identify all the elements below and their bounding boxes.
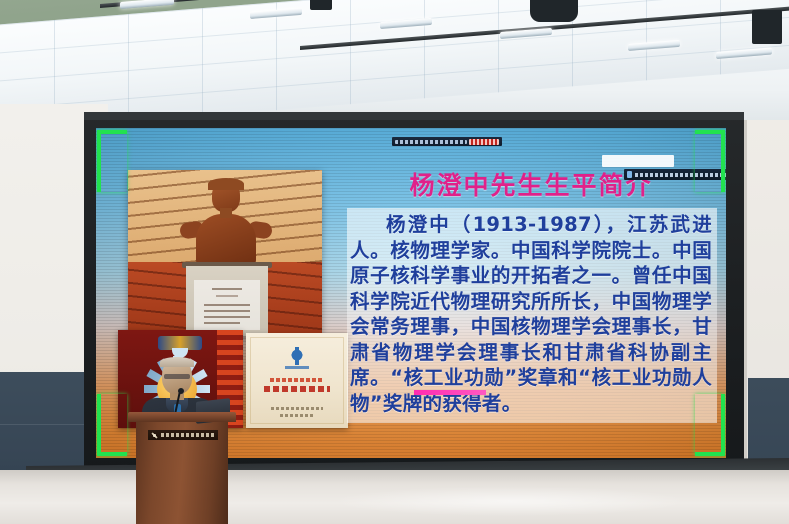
certificate-photo	[246, 333, 348, 428]
plaque-line	[204, 316, 250, 318]
bust-torso	[196, 214, 256, 266]
plaque-line	[216, 295, 238, 297]
speaker-glasses	[164, 374, 190, 379]
plaque-line	[204, 304, 250, 306]
pedestal-plaque	[194, 280, 260, 330]
screen-top-banner-badge	[469, 139, 499, 145]
stage-floor-highlight	[330, 486, 690, 516]
certificate-line-2	[264, 386, 330, 392]
frame-bracket-bottom-right	[695, 394, 725, 456]
institute-emblem-icon	[151, 432, 158, 439]
plaque-line	[204, 322, 240, 324]
statue-photo	[128, 170, 322, 336]
ceiling-projector	[530, 0, 578, 22]
cnnc-logo-icon	[287, 347, 307, 365]
bust-hair	[208, 178, 244, 190]
slide-accent-bar	[414, 390, 486, 395]
certificate-footer-2	[280, 414, 314, 417]
microphone-icon	[178, 388, 184, 394]
bust-neck	[220, 208, 232, 218]
pedestal	[186, 266, 268, 336]
ceiling	[0, 0, 789, 128]
plaque-line	[212, 288, 242, 290]
bronze-bust	[196, 180, 256, 266]
ceiling-vent	[310, 0, 332, 10]
speaker-hair	[160, 357, 194, 367]
slide-body-text: 杨澄中（1913-1987），江苏武进人。核物理学家。中国科学院院士。中国原子核…	[350, 212, 712, 416]
screen-top-banner	[392, 137, 502, 146]
lecture-hall-scene: 杨澄中先生生平简介 杨澄中（1913-1987），江苏武进人。核物理学家。中国科…	[0, 0, 789, 524]
certificate-line-1	[270, 378, 324, 382]
frame-bracket-top-right	[695, 130, 725, 192]
document-icon	[627, 171, 632, 178]
podium	[136, 418, 228, 524]
frame-bracket-top-left	[97, 130, 127, 192]
certificate-footer-1	[271, 407, 323, 410]
screen-overlay-white-box	[602, 155, 674, 167]
frame-bracket-bottom-left	[97, 394, 127, 456]
podium-nameplate	[148, 430, 218, 440]
screen-top-banner-label	[395, 140, 467, 144]
ceiling-speaker-box	[752, 10, 782, 44]
cnnc-logo-text	[285, 366, 309, 369]
podium-top	[128, 412, 236, 422]
plaque-line	[204, 310, 250, 312]
podium-nameplate-label	[161, 433, 215, 437]
